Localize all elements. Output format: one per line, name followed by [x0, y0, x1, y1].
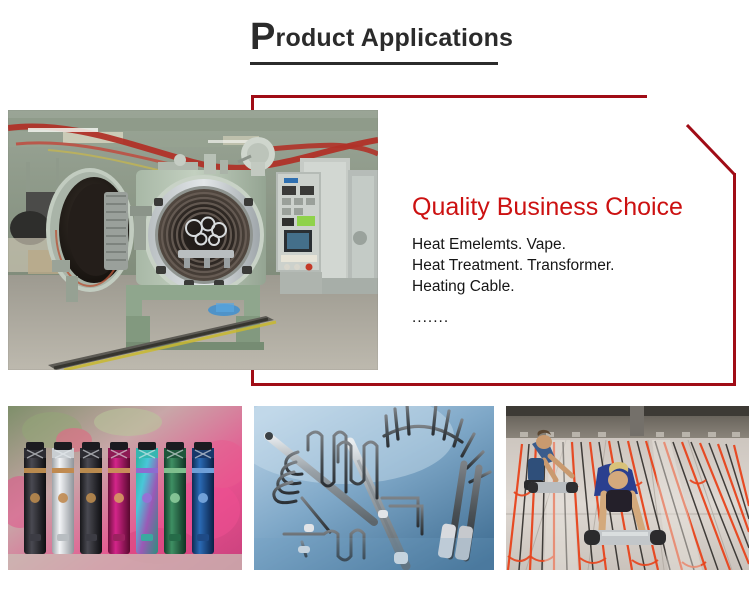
hero-bullet-3: Heating Cable.: [412, 276, 712, 297]
frame-line-bottom: [251, 383, 736, 386]
thumbnail-vape-pens: [8, 406, 242, 570]
thumbnail-heating-elements: [254, 406, 494, 570]
hero-bullet-1: Heat Emelemts. Vape.: [412, 234, 712, 255]
hero-image-vacuum-furnace: [8, 110, 378, 370]
thumbnail-strip: [0, 406, 749, 570]
header-section: Product Applications: [0, 0, 749, 90]
hero-headline: Quality Business Choice: [412, 192, 712, 222]
hero-bullet-2: Heat Treatment. Transformer.: [412, 255, 712, 276]
page-title: Product Applications: [250, 18, 513, 56]
title-underline: [250, 62, 498, 65]
hero-bullet-ellipsis: .......: [412, 307, 712, 328]
frame-line-top: [251, 95, 647, 98]
page-title-rest: roduct Applications: [276, 24, 514, 52]
hero-bullet-list: Heat Emelemts. Vape. Heat Treatment. Tra…: [412, 234, 712, 328]
page-title-initial: P: [250, 16, 276, 58]
frame-line-diagonal-icon: [686, 124, 749, 180]
hero-text-block: Quality Business Choice Heat Emelemts. V…: [412, 192, 712, 328]
thumbnail-floor-heating-cable: [506, 406, 749, 570]
frame-line-right: [733, 173, 736, 386]
